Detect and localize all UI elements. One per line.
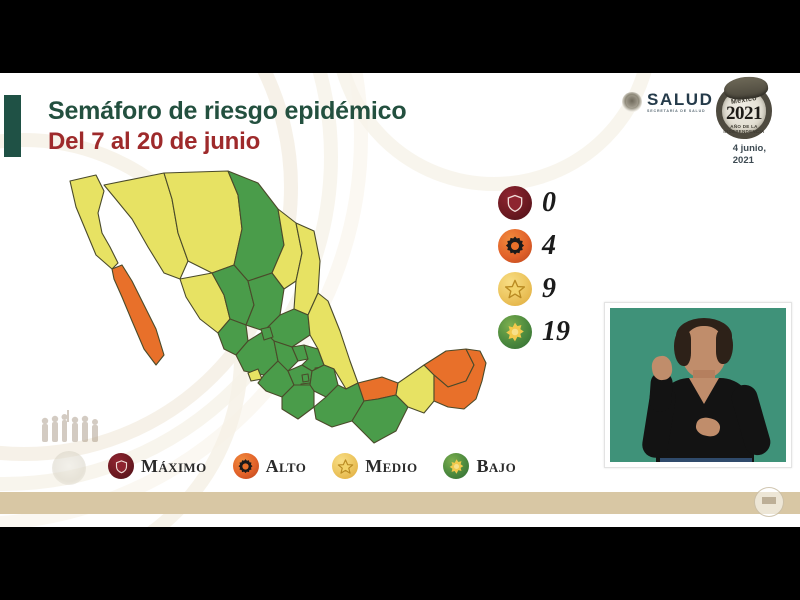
historical-figures-watermark bbox=[34, 410, 106, 444]
star-icon bbox=[498, 272, 532, 306]
legend-item-alto[interactable]: Alto bbox=[233, 453, 307, 479]
salud-logo: SALUD SECRETARÍA DE SALUD bbox=[622, 91, 714, 114]
screenshot-stage: Semáforo de riesgo epidémico Del 7 al 20… bbox=[0, 0, 800, 600]
count-value-bajo: 19 bbox=[542, 318, 570, 346]
sunburst-icon bbox=[498, 315, 532, 349]
page-title: Semáforo de riesgo epidémico Del 7 al 20… bbox=[48, 97, 406, 156]
legend-item-maximo[interactable]: Máximo bbox=[108, 453, 207, 479]
legend-label-bajo: Bajo bbox=[476, 457, 516, 475]
risk-count-legend: 0 4 bbox=[498, 181, 598, 353]
legend-label-alto: Alto bbox=[266, 457, 307, 475]
salud-wordmark: SALUD bbox=[647, 91, 714, 108]
count-row-maximo[interactable]: 0 bbox=[498, 181, 598, 224]
emblem-year-text: 2021 bbox=[716, 103, 772, 125]
bottom-decor-band bbox=[0, 492, 800, 514]
legend-label-medio: Medio bbox=[365, 457, 417, 475]
mexico-2021-emblem: México 2021 AÑO DE LA INDEPENDENCIA bbox=[716, 83, 772, 139]
star-icon bbox=[332, 453, 358, 479]
legend-item-medio[interactable]: Medio bbox=[332, 453, 417, 479]
shield-icon bbox=[108, 453, 134, 479]
interpreter-hair-right bbox=[716, 330, 733, 364]
government-seal-watermark bbox=[52, 451, 86, 485]
count-value-maximo: 0 bbox=[542, 189, 556, 217]
state-baja-california-sur bbox=[112, 265, 164, 365]
corner-watermark-icon bbox=[754, 487, 784, 517]
title-main: Semáforo de riesgo epidémico bbox=[48, 97, 406, 127]
mexico-risk-map[interactable] bbox=[52, 169, 502, 499]
sign-language-interpreter-panel bbox=[604, 302, 792, 468]
shield-icon bbox=[498, 186, 532, 220]
count-value-medio: 9 bbox=[542, 275, 556, 303]
title-subtitle: Del 7 al 20 de junio bbox=[48, 128, 406, 156]
gear-icon bbox=[233, 453, 259, 479]
title-accent-bar bbox=[4, 95, 21, 157]
interpreter-video bbox=[610, 308, 786, 462]
interpreter-jeans bbox=[660, 458, 752, 462]
interpreter-hair-left bbox=[674, 330, 691, 366]
count-row-medio[interactable]: 9 bbox=[498, 267, 598, 310]
risk-level-legend: Máximo Alto bbox=[108, 453, 516, 479]
mexican-eagle-seal-icon bbox=[622, 92, 642, 112]
sunburst-icon bbox=[443, 453, 469, 479]
slide-date-line2: 2021 bbox=[733, 155, 766, 167]
count-row-alto[interactable]: 4 bbox=[498, 224, 598, 267]
emblem-foot-text: AÑO DE LA INDEPENDENCIA bbox=[716, 124, 772, 134]
header-right: SALUD SECRETARÍA DE SALUD México 2021 AÑ… bbox=[622, 81, 794, 176]
count-row-bajo[interactable]: 19 bbox=[498, 310, 598, 353]
state-ciudad-de-mexico bbox=[302, 374, 309, 382]
presentation-slide: Semáforo de riesgo epidémico Del 7 al 20… bbox=[0, 73, 800, 527]
salud-subtitle: SECRETARÍA DE SALUD bbox=[647, 110, 714, 114]
legend-item-bajo[interactable]: Bajo bbox=[443, 453, 516, 479]
slide-date-line1: 4 junio, bbox=[733, 143, 766, 155]
slide-date: 4 junio, 2021 bbox=[733, 143, 766, 166]
legend-label-maximo: Máximo bbox=[141, 457, 207, 475]
count-value-alto: 4 bbox=[542, 232, 556, 260]
gear-icon bbox=[498, 229, 532, 263]
